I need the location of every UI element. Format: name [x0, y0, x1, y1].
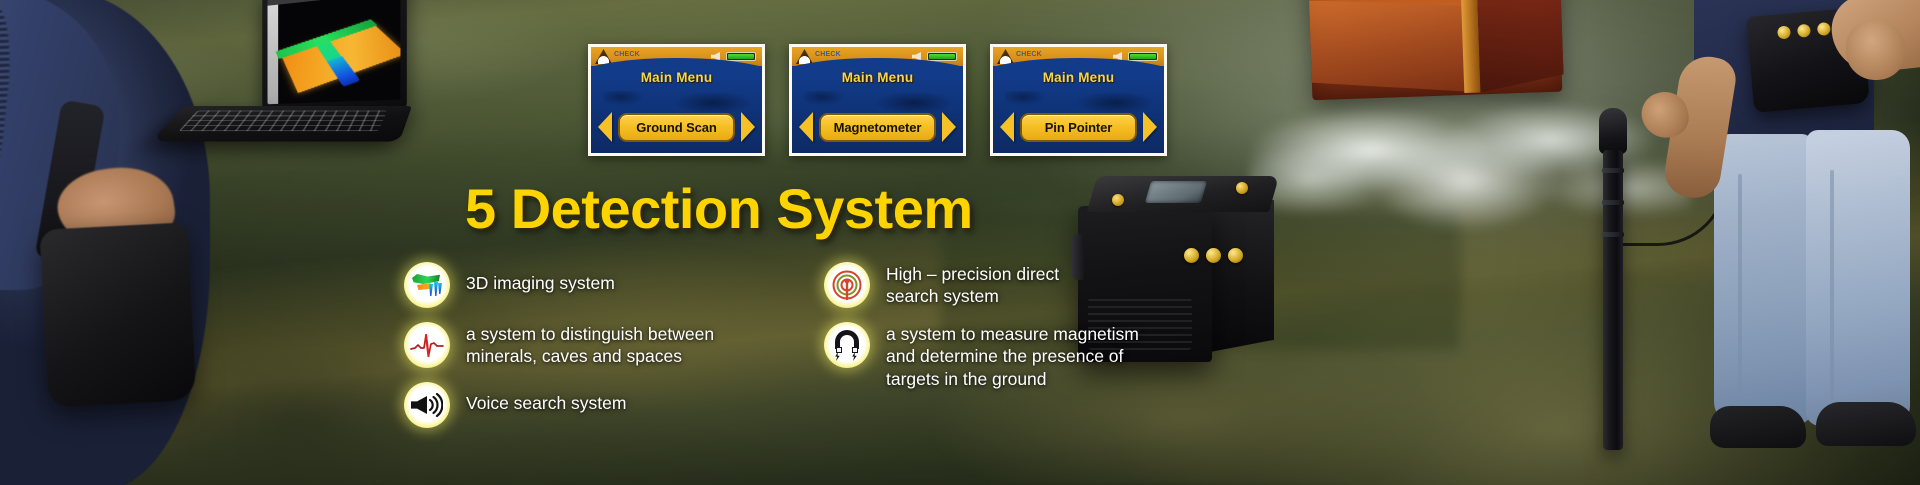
laptop-base: [150, 106, 412, 142]
left-figure-equipment-bag: [39, 222, 196, 408]
feature-item-magnetism: a system to measure magnetism and determ…: [824, 322, 1244, 390]
mode-button[interactable]: Ground Scan: [618, 113, 735, 142]
probe-ring-2: [1602, 200, 1624, 205]
ground-scan-3d-mesh: [273, 18, 400, 103]
probe-ring-1: [1602, 168, 1624, 173]
panel-brand-label: CHECK: [614, 51, 640, 58]
feature-item-mineral-discrimination: a system to distinguish between minerals…: [404, 322, 804, 368]
speaker-waves: [411, 392, 443, 418]
main-menu-panel-group: CHECK Main Menu Ground Scan CHECK: [588, 44, 1167, 156]
right-figure-man-with-probe: [1660, 0, 1920, 484]
3d-imaging-icon: [404, 262, 450, 308]
chest-front-face: [1309, 0, 1482, 98]
panel-mode-selector[interactable]: Ground Scan: [598, 112, 755, 142]
waveform-icon: [404, 322, 450, 368]
feature-item-direct-search: High – precision direct search system: [824, 262, 1244, 308]
mesh-blue-spike-2: [434, 282, 438, 296]
panel-mode-selector[interactable]: Pin Pointer: [1000, 112, 1157, 142]
magnet-icon: [824, 322, 870, 368]
page-title: 5 Detection System: [465, 176, 973, 241]
feature-label: Voice search system: [466, 382, 626, 414]
right-figure-right-shoe: [1816, 402, 1916, 446]
case-knob-left: [1112, 194, 1124, 206]
battery-icon: [1128, 52, 1158, 61]
scan-software-titlebar: [268, 0, 401, 6]
magnet-spark-right: [851, 352, 858, 361]
jeans-seam-left: [1738, 174, 1742, 404]
chevron-left-icon[interactable]: [1000, 112, 1014, 142]
mesh-blue-spike-3: [438, 283, 442, 294]
case-knob-right: [1236, 182, 1248, 194]
battery-icon: [927, 52, 957, 61]
handheld-button-2: [1797, 24, 1811, 38]
mode-button[interactable]: Magnetometer: [819, 113, 936, 142]
laptop-keyboard: [179, 110, 388, 131]
right-figure-left-leg: [1714, 134, 1812, 424]
handheld-button-1: [1777, 25, 1791, 39]
jeans-seam-right: [1830, 170, 1834, 400]
radar-target-icon: [824, 262, 870, 308]
waveform-glyph: [410, 332, 444, 358]
magnet-pole-right: [852, 347, 858, 353]
main-menu-panel-magnetometer[interactable]: CHECK Main Menu Magnetometer: [789, 44, 966, 156]
detector-promo-banner: CHECK Main Menu Ground Scan CHECK: [0, 0, 1920, 485]
feature-list-left: 3D imaging system a system to distinguis…: [404, 262, 804, 442]
case-display-screen: [1145, 181, 1207, 203]
radar-target-glyph: [831, 269, 863, 301]
battery-icon: [726, 52, 756, 61]
right-figure-right-hand: [1846, 20, 1906, 80]
speaker-icon: [404, 382, 450, 428]
magnet-spark-left: [834, 352, 841, 361]
chevron-left-icon[interactable]: [799, 112, 813, 142]
handheld-button-row: [1777, 22, 1831, 40]
probe-ring-3: [1602, 232, 1624, 237]
panel-brand-label: CHECK: [1016, 51, 1042, 58]
feature-label: a system to measure magnetism and determ…: [886, 322, 1139, 390]
speaker-glyph: [411, 392, 443, 418]
handheld-button-3: [1817, 22, 1831, 36]
laptop: [148, 0, 408, 154]
3d-imaging-glyph: [411, 272, 443, 298]
chevron-left-icon[interactable]: [598, 112, 612, 142]
panel-brand-label: CHECK: [815, 51, 841, 58]
feature-label: High – precision direct search system: [886, 262, 1059, 308]
panel-mode-selector[interactable]: Magnetometer: [799, 112, 956, 142]
magnet-pole-left: [836, 347, 842, 353]
case-button-3: [1228, 248, 1243, 263]
treasure-chest: [1307, 0, 1563, 120]
feature-list-right: High – precision direct search system a …: [824, 262, 1244, 404]
case-button-1: [1184, 248, 1199, 263]
chevron-right-icon[interactable]: [741, 112, 755, 142]
chevron-right-icon[interactable]: [942, 112, 956, 142]
panel-title: Main Menu: [792, 70, 963, 85]
feature-label: 3D imaging system: [466, 262, 615, 294]
right-figure-left-shoe: [1710, 406, 1806, 448]
battery-level-fill: [1130, 54, 1156, 59]
panel-title: Main Menu: [591, 70, 762, 85]
laptop-lid: [262, 0, 407, 112]
mesh-blue-spike-1: [429, 284, 433, 296]
feature-item-3d-imaging: 3D imaging system: [404, 262, 804, 308]
battery-level-fill: [929, 54, 955, 59]
laptop-screen: [268, 0, 401, 104]
magnet-glyph: [832, 330, 862, 360]
pin-pointer-probe: [1597, 108, 1631, 456]
main-menu-panel-ground-scan[interactable]: CHECK Main Menu Ground Scan: [588, 44, 765, 156]
mode-button[interactable]: Pin Pointer: [1020, 113, 1137, 142]
panel-title: Main Menu: [993, 70, 1164, 85]
probe-grip: [1599, 108, 1627, 154]
case-button-2: [1206, 248, 1221, 263]
main-menu-panel-pin-pointer[interactable]: CHECK Main Menu Pin Pointer: [990, 44, 1167, 156]
right-figure-right-leg: [1806, 130, 1910, 426]
chevron-right-icon[interactable]: [1143, 112, 1157, 142]
feature-label: a system to distinguish between minerals…: [466, 322, 714, 368]
battery-level-fill: [728, 54, 754, 59]
probe-shaft: [1603, 150, 1623, 450]
feature-item-voice-search: Voice search system: [404, 382, 804, 428]
